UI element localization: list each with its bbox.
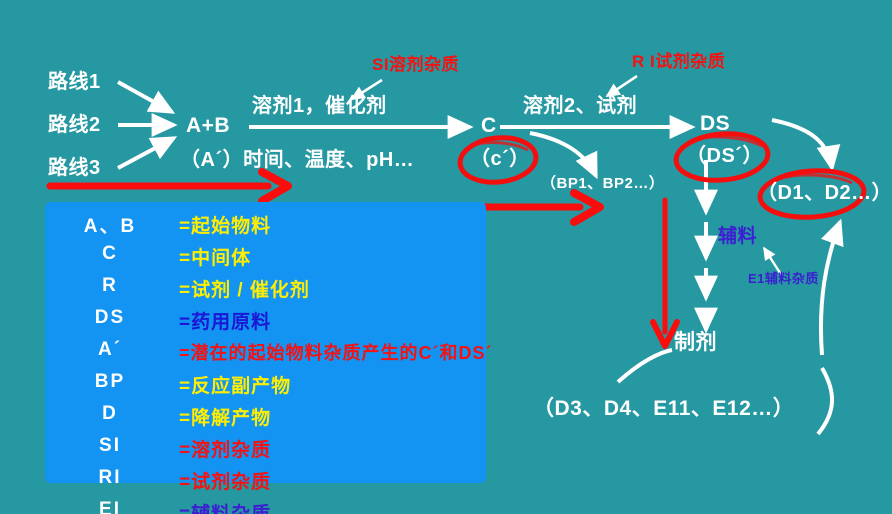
legend-symbol: D [45,403,175,425]
product-impurities-label: （D3、D4、E11、E12…） [533,398,794,419]
legend-text: =试剂 / 催化剂 [179,275,310,302]
node-start: A+B [186,115,230,136]
legend-text: =药用原料 [179,307,271,334]
legend-text: =溶剂杂质 [179,435,271,462]
product-label: 制剂 [674,332,717,353]
legend-row: RI =试剂杂质 [45,467,486,498]
legend-symbol: A´ [45,339,175,361]
right-up-curved-arrow [821,222,840,355]
legend-symbol: C [45,243,175,265]
degradants-label: （D1、D2…） [757,183,892,203]
excipient-label: 辅料 [718,227,757,246]
legend-text: =辅料杂质 [179,499,271,514]
legend-symbol: SI [45,435,175,457]
legend-text: =潜在的起始物料杂质产生的C´和DS´ [179,339,493,365]
degradants-arrow [772,120,832,168]
route-label-3: 路线3 [48,158,101,178]
ri-note-pointer [607,76,637,96]
legend-text: =降解产物 [179,403,271,430]
route-label-2: 路线2 [48,115,101,135]
legend-row: BP =反应副产物 [45,371,486,402]
legend-box: A、B =起始物料 C =中间体 R =试剂 / 催化剂 DS =药用原料 A´… [45,202,486,483]
route-label-1: 路线1 [48,72,101,92]
legend-symbol: EI [45,499,175,514]
node-c-sub: （c´） [470,149,530,169]
legend-symbol: DS [45,307,175,329]
diagram-canvas: 路线1 路线2 路线3 A+B （A´）时间、温度、pH… 溶剂1，催化剂 SI… [0,0,892,514]
legend-row: SI =溶剂杂质 [45,435,486,466]
legend-text: =反应副产物 [179,371,291,398]
right-lower-curve [818,368,832,434]
node-start-sub: （A´）时间、温度、pH… [180,150,414,170]
legend-text: =起始物料 [179,211,271,238]
node-ds: DS [700,113,730,134]
excipient-note: E1辅料杂质 [748,272,819,285]
legend-row: C =中间体 [45,243,486,274]
legend-symbol: R [45,275,175,297]
byproducts-arrow [530,133,596,176]
ri-note: R I试剂杂质 [632,53,725,70]
legend-text: =试剂杂质 [179,467,271,494]
legend-row: D =降解产物 [45,403,486,434]
byproducts-label: （BP1、BP2…） [541,176,664,191]
step1-condition: 溶剂1，催化剂 [252,96,387,116]
node-ds-sub: （DS´） [686,146,763,166]
route1-arrow [118,82,172,112]
step2-condition: 溶剂2、试剂 [523,96,637,116]
node-c: C [481,115,497,136]
si-note: SI溶剂杂质 [372,56,459,73]
legend-symbol: BP [45,371,175,393]
legend-row: EI =辅料杂质 [45,499,486,514]
route3-arrow [118,138,174,168]
red-down-arrow [653,200,677,346]
legend-symbol: A、B [45,211,175,238]
legend-row: R =试剂 / 催化剂 [45,275,486,306]
legend-text: =中间体 [179,243,251,270]
legend-row: A´ =潜在的起始物料杂质产生的C´和DS´ [45,339,486,370]
legend-row: A、B =起始物料 [45,211,486,242]
legend-row: DS =药用原料 [45,307,486,338]
product-impurities-curve [618,350,672,382]
legend-symbol: RI [45,467,175,489]
